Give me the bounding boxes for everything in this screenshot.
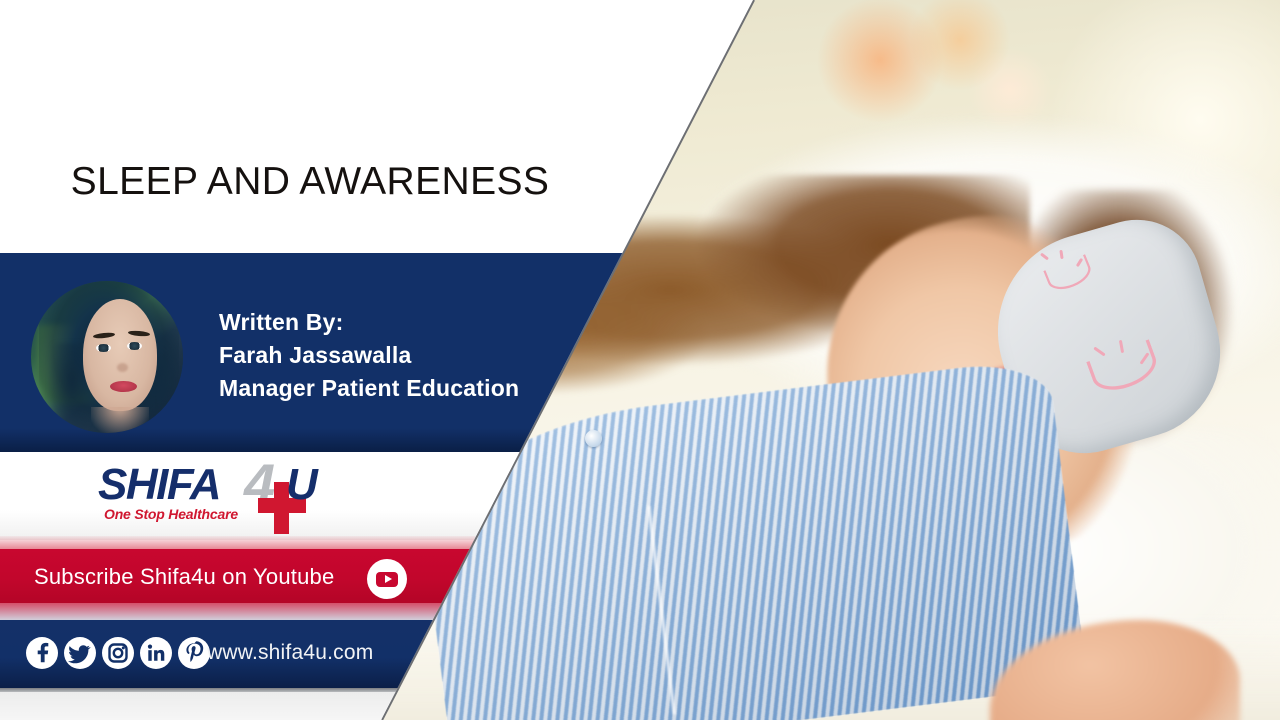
avatar-face: [83, 299, 157, 411]
pyjama-button: [585, 430, 602, 447]
avatar-neck: [91, 407, 149, 433]
avatar-nose: [117, 363, 128, 372]
logo-tagline: One Stop Healthcare: [104, 506, 238, 522]
avatar-lips: [110, 381, 137, 392]
author-credit: Written By: Farah Jassawalla Manager Pat…: [219, 306, 519, 405]
instagram-icon[interactable]: [102, 637, 134, 669]
youtube-icon-triangle: [385, 575, 392, 583]
shifa4u-logo[interactable]: SHIFA 4 U One Stop Healthcare: [98, 460, 348, 536]
subscribe-label[interactable]: Subscribe Shifa4u on Youtube: [34, 564, 334, 590]
youtube-play-icon[interactable]: [367, 559, 407, 599]
avatar-eye-right: [127, 342, 142, 350]
facebook-icon[interactable]: [26, 637, 58, 669]
logo-letter-u: U: [286, 460, 318, 510]
author-name: Farah Jassawalla: [219, 339, 519, 372]
slide-canvas: SLEEP AND AWARENESS Written By:: [0, 0, 1280, 720]
avatar-photo: [31, 281, 183, 433]
youtube-icon-body: [376, 572, 398, 587]
logo-wordmark: SHIFA: [98, 460, 220, 510]
twitter-icon[interactable]: [64, 637, 96, 669]
pinterest-icon[interactable]: [178, 637, 210, 669]
written-by-label: Written By:: [219, 306, 519, 339]
avatar: [31, 281, 183, 433]
social-links: [26, 637, 210, 669]
linkedin-icon[interactable]: [140, 637, 172, 669]
website-url[interactable]: www.shifa4u.com: [207, 641, 373, 665]
author-role: Manager Patient Education: [219, 372, 519, 405]
avatar-eye-left: [96, 344, 111, 352]
page-title: SLEEP AND AWARENESS: [0, 160, 620, 204]
